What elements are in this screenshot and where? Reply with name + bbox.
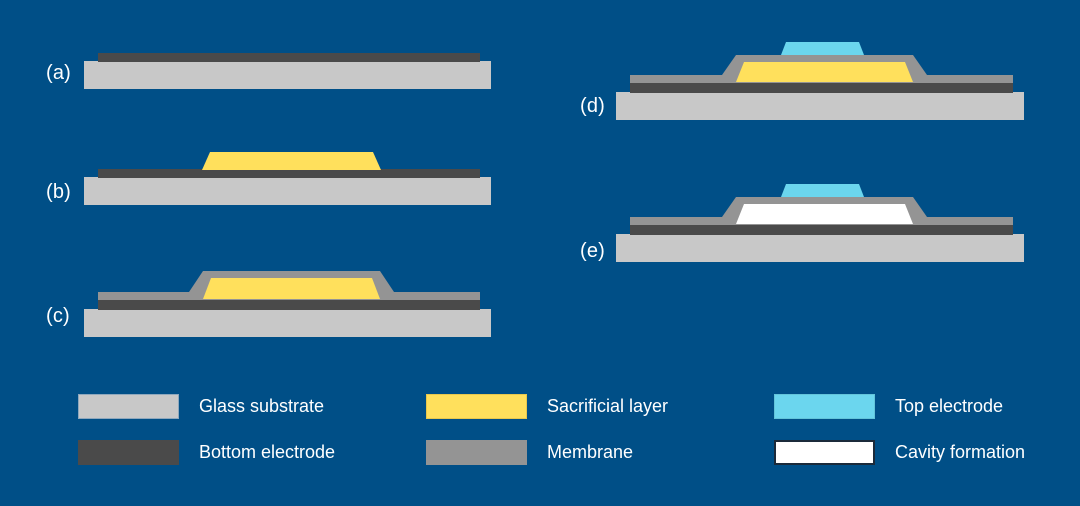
legend-label-membrane: Membrane xyxy=(547,443,633,461)
legend-column-2: Sacrificial layer Membrane xyxy=(426,380,756,480)
panel-label-b: (b) xyxy=(46,181,71,204)
panel-label-d: (d) xyxy=(580,95,605,118)
sacrificial-layer-swatch xyxy=(426,394,527,419)
sacrificial-layer-shape xyxy=(736,62,913,82)
sacrificial-layer-shape xyxy=(202,152,381,170)
legend-column-1: Glass substrate Bottom electrode xyxy=(78,380,408,480)
legend-label-glass-substrate: Glass substrate xyxy=(199,397,324,415)
legend-item-cavity-formation: Cavity formation xyxy=(774,437,1025,467)
panel-label-a: (a) xyxy=(46,62,71,85)
cmut-process-figure: (a) (b) (c) (d) (e) xyxy=(0,0,1080,506)
panel-label-c: (c) xyxy=(46,305,70,328)
glass-substrate-layer xyxy=(84,177,491,205)
legend-item-bottom-electrode: Bottom electrode xyxy=(78,437,335,467)
legend-label-bottom-electrode: Bottom electrode xyxy=(199,443,335,461)
bottom-electrode-layer xyxy=(98,169,480,178)
glass-substrate-layer xyxy=(616,92,1024,120)
bottom-electrode-layer xyxy=(98,53,480,62)
top-electrode-layer xyxy=(781,184,864,197)
legend-label-sacrificial-layer: Sacrificial layer xyxy=(547,397,668,415)
glass-substrate-layer xyxy=(616,234,1024,262)
bottom-electrode-swatch xyxy=(78,440,179,465)
legend-item-top-electrode: Top electrode xyxy=(774,391,1003,421)
legend-label-cavity-formation: Cavity formation xyxy=(895,443,1025,461)
panel-b-stack xyxy=(84,140,494,210)
sacrificial-layer-shape xyxy=(203,278,380,299)
glass-substrate-swatch xyxy=(78,394,179,419)
panel-c-stack xyxy=(84,262,494,342)
legend-column-3: Top electrode Cavity formation xyxy=(774,380,1080,480)
legend: Glass substrate Bottom electrode Sacrifi… xyxy=(78,380,1038,480)
bottom-electrode-layer xyxy=(98,299,480,310)
top-electrode-swatch xyxy=(774,394,875,419)
cavity-formation-swatch xyxy=(774,440,875,465)
panel-label-e: (e) xyxy=(580,240,605,263)
bottom-electrode-layer xyxy=(630,82,1013,93)
cavity-formation-shape xyxy=(736,204,913,224)
legend-item-sacrificial-layer: Sacrificial layer xyxy=(426,391,668,421)
panel-a-stack xyxy=(84,46,494,96)
glass-substrate-layer xyxy=(84,61,491,89)
legend-item-membrane: Membrane xyxy=(426,437,633,467)
top-electrode-layer xyxy=(781,42,864,55)
bottom-electrode-layer xyxy=(630,224,1013,235)
panel-d-stack xyxy=(616,36,1028,126)
legend-label-top-electrode: Top electrode xyxy=(895,397,1003,415)
panel-e-stack xyxy=(616,183,1028,268)
legend-item-glass-substrate: Glass substrate xyxy=(78,391,324,421)
glass-substrate-layer xyxy=(84,309,491,337)
membrane-swatch xyxy=(426,440,527,465)
